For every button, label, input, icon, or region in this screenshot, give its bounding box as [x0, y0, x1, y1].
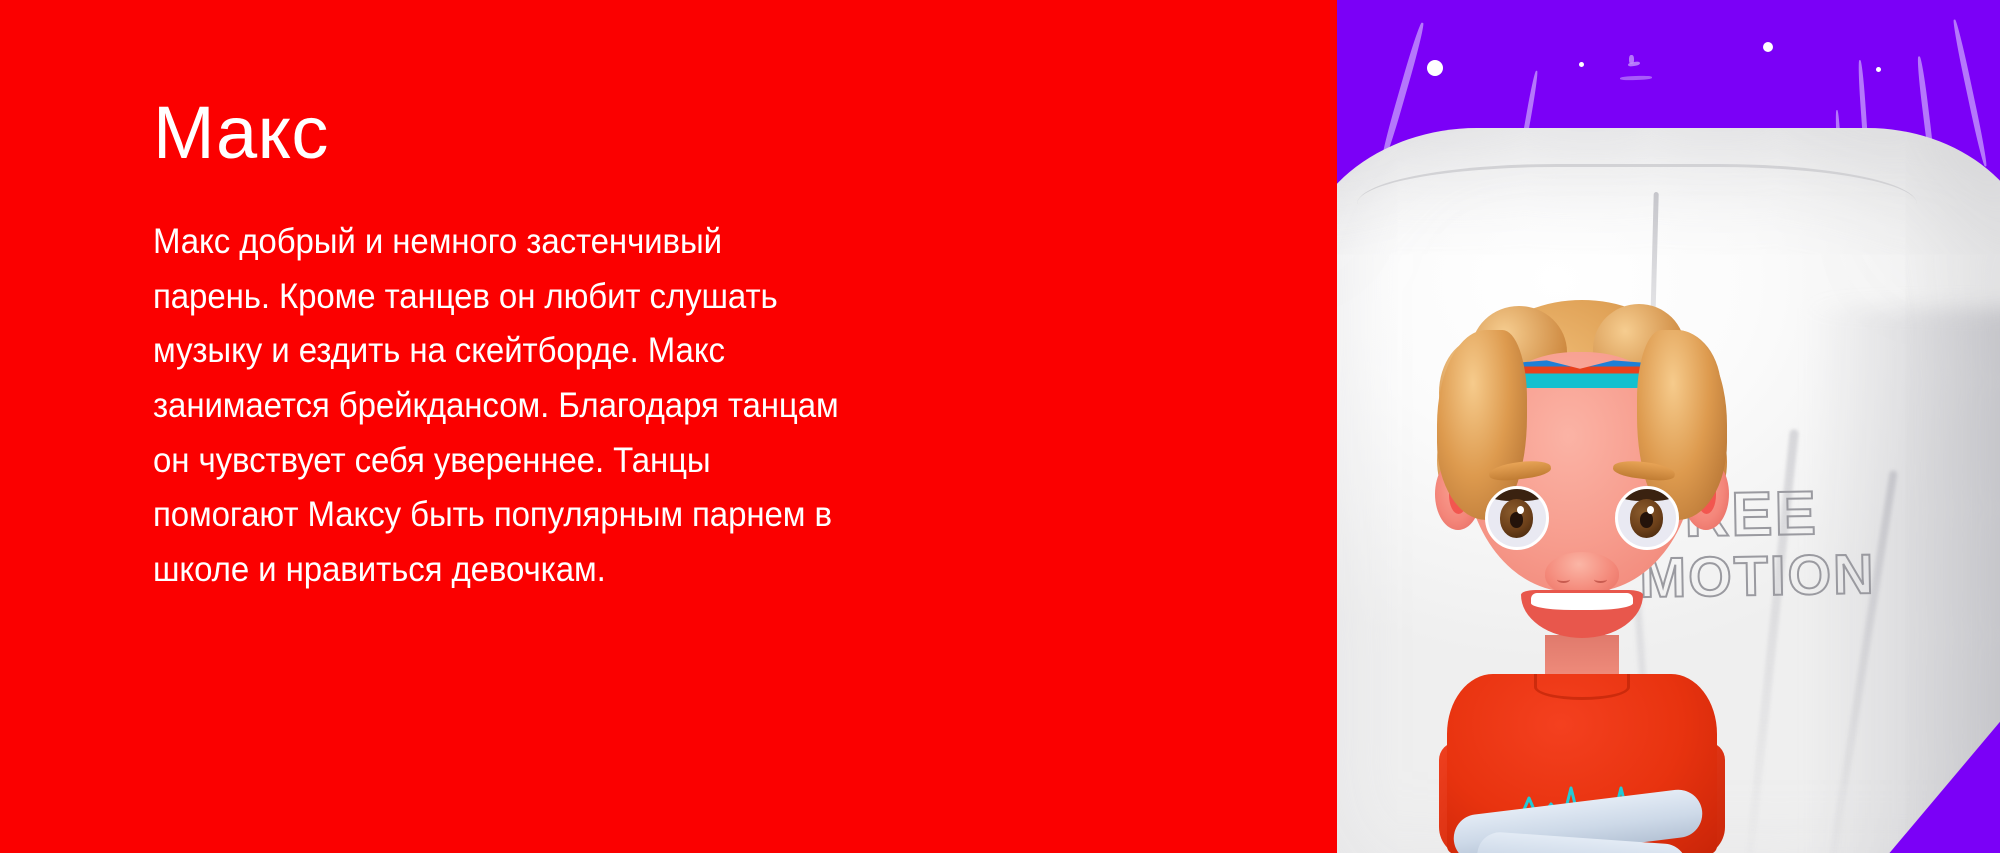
eye-left [1485, 486, 1549, 550]
character-bio: Макс добрый и немного застенчивый парень… [153, 214, 841, 597]
character-photo-panel: FREE MOTION [1337, 0, 2000, 853]
pupil [1510, 512, 1523, 527]
sparkle-streak-icon [1629, 55, 1634, 64]
iris [1630, 499, 1664, 537]
mouth [1521, 590, 1643, 638]
sparkle-dot-icon [1427, 60, 1443, 76]
page-title: Макс [153, 96, 913, 170]
eye-glint [1647, 506, 1654, 514]
sparkle-streak-icon [1620, 75, 1652, 80]
tshirt-collar [1534, 674, 1630, 700]
eye-right [1615, 486, 1679, 550]
sparkle-dot-icon [1763, 42, 1773, 52]
slide-canvas: FREE MOTION [0, 0, 2000, 853]
character-text-block: Макс Макс добрый и немного застенчивый п… [153, 96, 913, 597]
nostril [1557, 576, 1570, 583]
hood-seam [1357, 164, 1917, 204]
sparkle-dot-icon [1579, 62, 1584, 67]
character-illustration [1437, 290, 1727, 853]
nostril [1594, 576, 1607, 583]
eye-glint [1517, 506, 1524, 514]
pupil [1640, 512, 1653, 527]
eyelid [1616, 486, 1679, 501]
sparkle-streak-icon [1951, 19, 1988, 167]
teeth [1531, 593, 1633, 610]
iris [1500, 499, 1534, 537]
eyelid [1486, 486, 1549, 501]
text-panel: Макс Макс добрый и немного застенчивый п… [0, 0, 1337, 853]
sparkle-dot-icon [1876, 67, 1881, 72]
